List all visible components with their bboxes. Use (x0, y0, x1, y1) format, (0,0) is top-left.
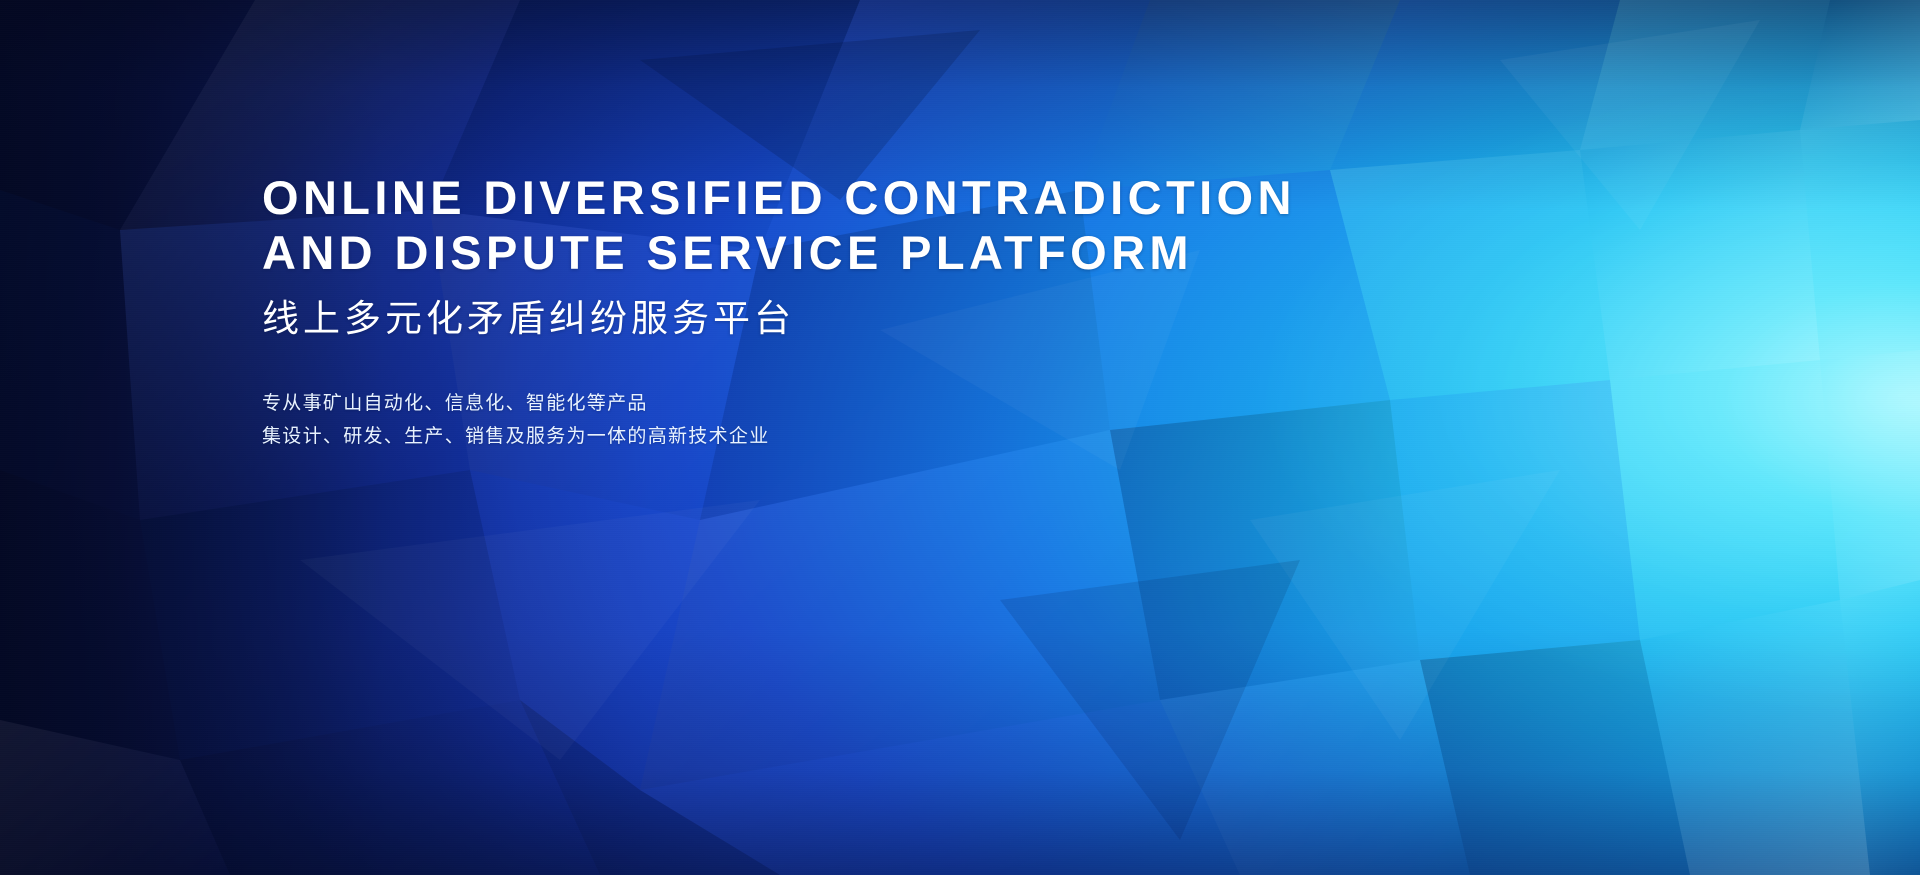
banner-headline: ONLINE DIVERSIFIED CONTRADICTION AND DIS… (262, 170, 1562, 280)
hero-banner: ONLINE DIVERSIFIED CONTRADICTION AND DIS… (0, 0, 1920, 875)
headline-line-2: AND DISPUTE SERVICE PLATFORM (262, 225, 1562, 280)
headline-line-1: ONLINE DIVERSIFIED CONTRADICTION (262, 171, 1296, 224)
banner-description: 专从事矿山自动化、信息化、智能化等产品 集设计、研发、生产、销售及服务为一体的高… (262, 343, 1562, 453)
description-line-1: 专从事矿山自动化、信息化、智能化等产品 (262, 387, 1562, 420)
banner-subtitle-chinese: 线上多元化矛盾纠纷服务平台 (262, 280, 1562, 343)
banner-content: ONLINE DIVERSIFIED CONTRADICTION AND DIS… (262, 170, 1562, 453)
description-line-2: 集设计、研发、生产、销售及服务为一体的高新技术企业 (262, 420, 1562, 453)
